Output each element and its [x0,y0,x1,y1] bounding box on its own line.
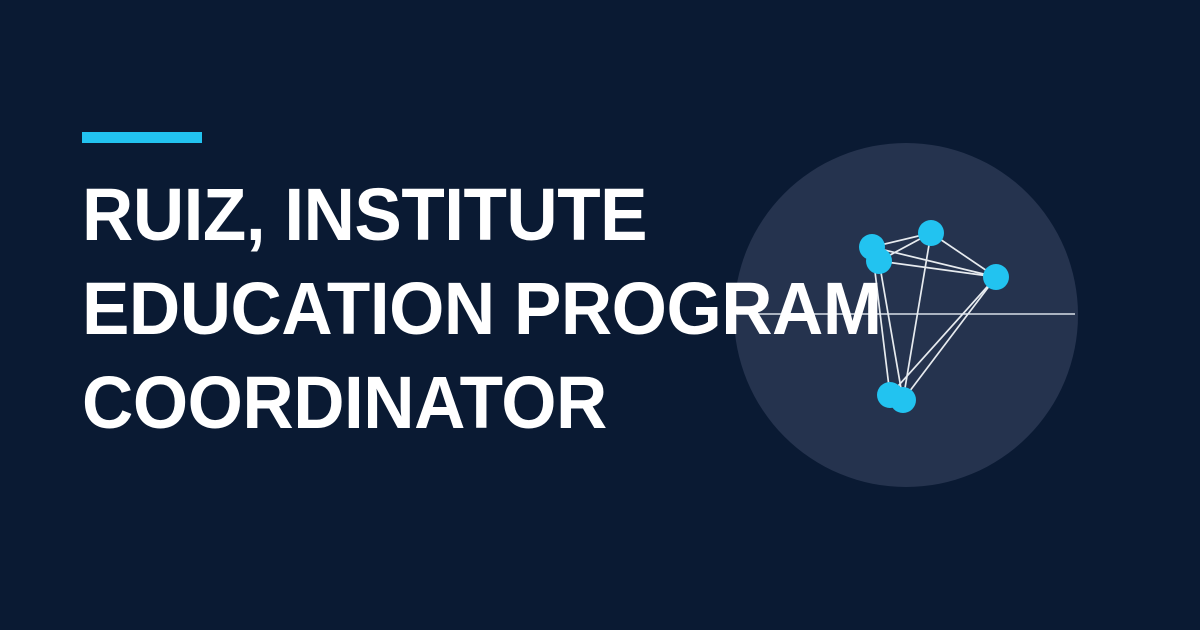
accent-bar [82,132,202,143]
social-card: RUIZ, INSTITUTE EDUCATION PROGRAM COORDI… [0,0,1200,630]
card-content: RUIZ, INSTITUTE EDUCATION PROGRAM COORDI… [82,0,1122,630]
page-title: RUIZ, INSTITUTE EDUCATION PROGRAM COORDI… [82,168,1071,450]
